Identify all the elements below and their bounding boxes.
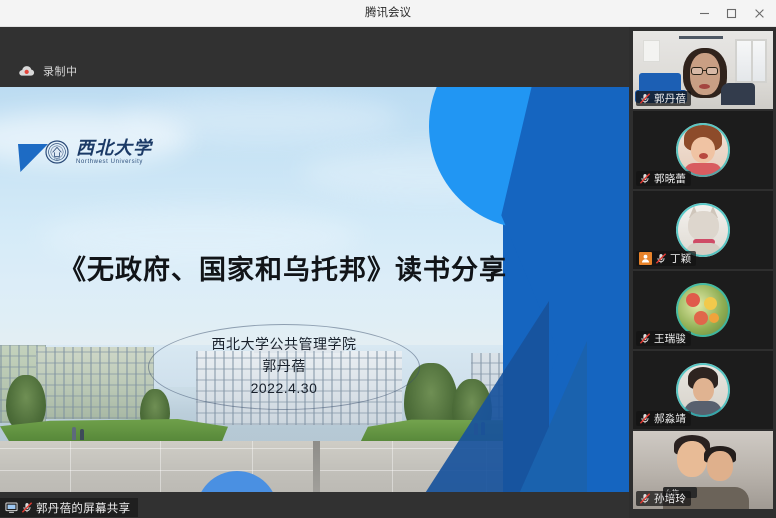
slide-presenter: 郭丹蓓 (148, 355, 420, 377)
avatar-ring (676, 203, 730, 257)
participant-tile[interactable]: 王瑞骏 (633, 271, 773, 349)
slide-subtitle-group: 西北大学公共管理学院 郭丹蓓 2022.4.30 (148, 324, 420, 410)
maximize-button[interactable] (718, 0, 744, 27)
participant-tile[interactable]: 郭丹蓓 (633, 31, 773, 109)
share-status-bar: 郭丹蓓的屏幕共享 (0, 492, 629, 518)
slide-organization: 西北大学公共管理学院 (148, 333, 420, 355)
person-icon (641, 254, 650, 263)
university-name-cn: 西北大学 (76, 139, 152, 157)
slide-title: 《无政府、国家和乌托邦》读书分享 (0, 248, 566, 287)
pedestrian (80, 429, 84, 440)
minimize-icon (699, 8, 710, 19)
avatar-ring (676, 363, 730, 417)
avatar (676, 203, 730, 257)
glasses-lens-left (691, 67, 703, 75)
mic-muted-icon (21, 501, 33, 514)
glasses-bridge (703, 70, 706, 71)
participant-name: 郝淼靖 (654, 411, 686, 426)
avatar-ring (676, 283, 730, 337)
participant-namebar: 丁颖 (636, 251, 696, 266)
participant-tile[interactable]: 女拖... 孙培玲 (633, 431, 773, 509)
recording-bar: 录制中 (0, 27, 629, 87)
mic-muted-icon (639, 332, 651, 345)
mic-muted-icon (639, 172, 651, 185)
wall-picture-frame (643, 40, 660, 62)
host-badge (639, 252, 652, 265)
wall-shelf (679, 36, 723, 39)
recording-indicator: 录制中 (18, 63, 78, 79)
slide-subtitle-lines: 西北大学公共管理学院 郭丹蓓 2022.4.30 (148, 333, 420, 399)
window-mullion (751, 41, 753, 81)
building-left (36, 347, 154, 419)
room-window (735, 39, 767, 83)
university-logo: 1902 西北大学 Northwest University (45, 139, 152, 165)
recording-label: 录制中 (43, 63, 78, 79)
participant-namebar: 郝淼靖 (636, 411, 691, 426)
presentation-slide: 1902 西北大学 Northwest University 《无政府、国家和乌… (0, 87, 629, 515)
participant-face-secondary (707, 451, 733, 481)
cloud-recording-icon (18, 65, 35, 77)
participant-name: 孙培玲 (654, 491, 686, 506)
participant-namebar: 孙培玲 (636, 491, 691, 506)
participant-namebar: 王瑞骏 (636, 331, 691, 346)
participant-shoulder (721, 83, 755, 105)
close-icon (754, 8, 765, 19)
participant-name: 郭晓蕾 (654, 171, 686, 186)
minimize-button[interactable] (691, 0, 717, 27)
close-button[interactable] (746, 0, 772, 27)
pedestrian (72, 427, 76, 440)
participant-tile[interactable]: 郝淼靖 (633, 351, 773, 429)
participant-namebar: 郭丹蓓 (636, 91, 691, 106)
mic-muted-icon (639, 492, 651, 505)
participant-namebar: 郭晓蕾 (636, 171, 691, 186)
participant-name: 郭丹蓓 (654, 91, 686, 106)
participant-tile[interactable]: 郭晓蕾 (633, 111, 773, 189)
window-title: 腾讯会议 (0, 0, 776, 27)
mic-muted-icon (655, 252, 667, 265)
building-windows (36, 347, 154, 419)
meeting-content: 录制中 (0, 27, 776, 518)
participant-face (677, 441, 707, 477)
svg-text:1902: 1902 (54, 157, 61, 161)
shared-screen-pane[interactable]: 录制中 (0, 27, 629, 518)
mic-muted-icon (639, 92, 651, 105)
glasses-lens-right (706, 67, 718, 75)
slide-date: 2022.4.30 (148, 377, 420, 399)
participant-tile[interactable]: 丁颖 (633, 191, 773, 269)
avatar (676, 283, 730, 337)
participant-name: 王瑞骏 (654, 331, 686, 346)
university-name-en: Northwest University (76, 159, 152, 165)
title-bar: 腾讯会议 (0, 0, 776, 27)
participant-name: 丁颖 (670, 251, 691, 266)
share-status-text: 郭丹蓓的屏幕共享 (36, 500, 130, 516)
share-status-chip: 郭丹蓓的屏幕共享 (0, 498, 138, 517)
participant-mouth (699, 84, 710, 89)
participants-sidebar[interactable]: 郭丹蓓 (629, 27, 776, 518)
cloud-decoration (120, 95, 400, 141)
avatar-ring (676, 123, 730, 177)
mic-muted-icon (639, 412, 651, 425)
maximize-icon (726, 8, 737, 19)
monitor-icon (5, 501, 18, 514)
tencent-meeting-window: 腾讯会议 (0, 0, 776, 518)
avatar (676, 123, 730, 177)
university-seal-icon: 1902 (45, 140, 69, 164)
avatar (676, 363, 730, 417)
university-logo-text: 西北大学 Northwest University (76, 139, 152, 165)
